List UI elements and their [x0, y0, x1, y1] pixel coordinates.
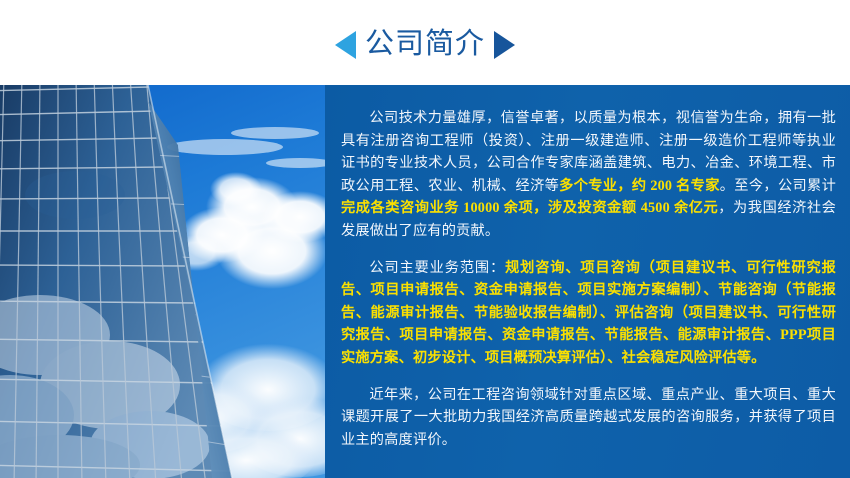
triangle-right-icon	[494, 31, 515, 59]
triangle-left-icon	[335, 31, 356, 59]
company-profile-slide: 公司简介	[0, 0, 850, 478]
paragraph-business-scope: 公司主要业务范围：规划咨询、项目咨询（项目建议书、可行性研究报告、项目申请报告、…	[341, 257, 836, 370]
page-title: 公司简介	[365, 30, 485, 59]
content-area: 公司技术力量雄厚，信誉卓著，以质量为根本，视信誉为生命，拥有一批具有注册咨询工程…	[0, 85, 850, 478]
header-title-group: 公司简介	[335, 30, 515, 59]
paragraph-company-strength: 公司技术力量雄厚，信誉卓著，以质量为根本，视信誉为生命，拥有一批具有注册咨询工程…	[341, 107, 836, 243]
building-sky-illustration	[0, 85, 325, 478]
run-text: 。至今，公司累计	[720, 178, 836, 194]
building-sky-photo	[0, 85, 325, 478]
description-panel: 公司技术力量雄厚，信誉卓著，以质量为根本，视信誉为生命，拥有一批具有注册咨询工程…	[325, 85, 850, 478]
paragraph-recent-years: 近年来，公司在工程咨询领域针对重点区域、重点产业、重大项目、重大课题开展了一大批…	[341, 384, 836, 452]
description-text-block: 公司技术力量雄厚，信誉卓著，以质量为根本，视信誉为生命，拥有一批具有注册咨询工程…	[341, 107, 836, 451]
business-scope-label: 公司主要业务范围：	[369, 260, 505, 276]
header-band: 公司简介	[0, 0, 850, 85]
run-text: 近年来，公司在工程咨询领域针对重点区域、重点产业、重大项目、重大课题开展了一大批…	[341, 387, 836, 448]
highlight-business-volume: 完成各类咨询业务 10000 余项，涉及投资金额 4500 余亿元	[341, 200, 718, 216]
highlight-experts-count: 多个专业，约 200 名专家	[559, 178, 720, 194]
